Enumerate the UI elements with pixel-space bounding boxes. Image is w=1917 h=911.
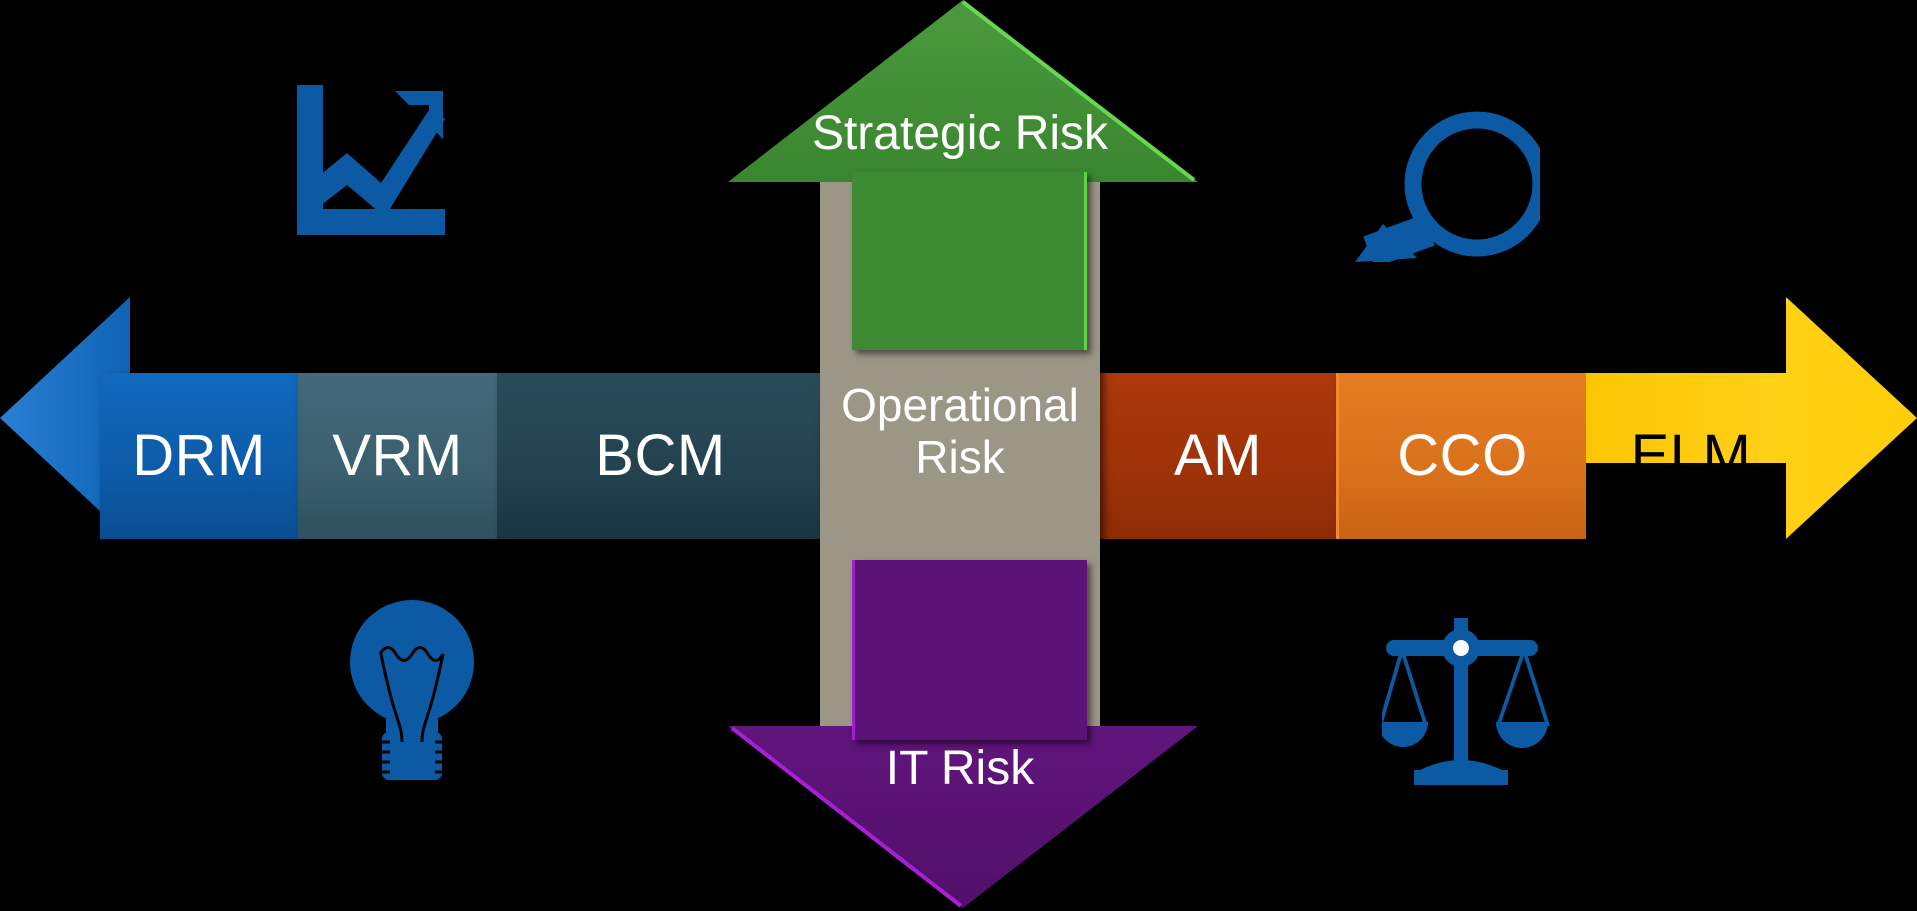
segment-drm[interactable]: DRM (100, 373, 298, 539)
diagram-canvas: DRM VRM BCM AM CCO ELM (0, 0, 1917, 907)
operational-risk-label-line1: Operational (820, 380, 1100, 432)
growth-chart-icon (285, 85, 445, 250)
segment-cco[interactable]: CCO (1336, 373, 1586, 539)
lightbulb-icon (350, 592, 475, 782)
strategic-risk-label: Strategic Risk (730, 110, 1190, 158)
operational-risk-label: Operational Risk (820, 380, 1100, 483)
segment-cco-label: CCO (1397, 427, 1527, 485)
segment-bcm[interactable]: BCM (497, 373, 824, 539)
segment-elm-label: ELM (1631, 427, 1752, 485)
segment-am[interactable]: AM (1100, 373, 1336, 539)
balance-scales-icon (1382, 618, 1577, 796)
segment-vrm[interactable]: VRM (298, 373, 497, 539)
segment-vrm-label: VRM (332, 427, 462, 485)
strategic-risk-bar[interactable] (852, 172, 1087, 350)
fulcrum-center-dot (1453, 640, 1469, 656)
it-risk-bar[interactable] (852, 560, 1087, 740)
operational-risk-label-line2: Risk (820, 432, 1100, 484)
it-risk-label: IT Risk (730, 745, 1190, 793)
segment-bcm-label: BCM (595, 427, 725, 485)
magnifier-icon (1355, 72, 1540, 262)
segment-drm-label: DRM (132, 427, 266, 485)
segment-elm[interactable]: ELM (1586, 373, 1796, 539)
segment-am-label: AM (1174, 427, 1262, 485)
